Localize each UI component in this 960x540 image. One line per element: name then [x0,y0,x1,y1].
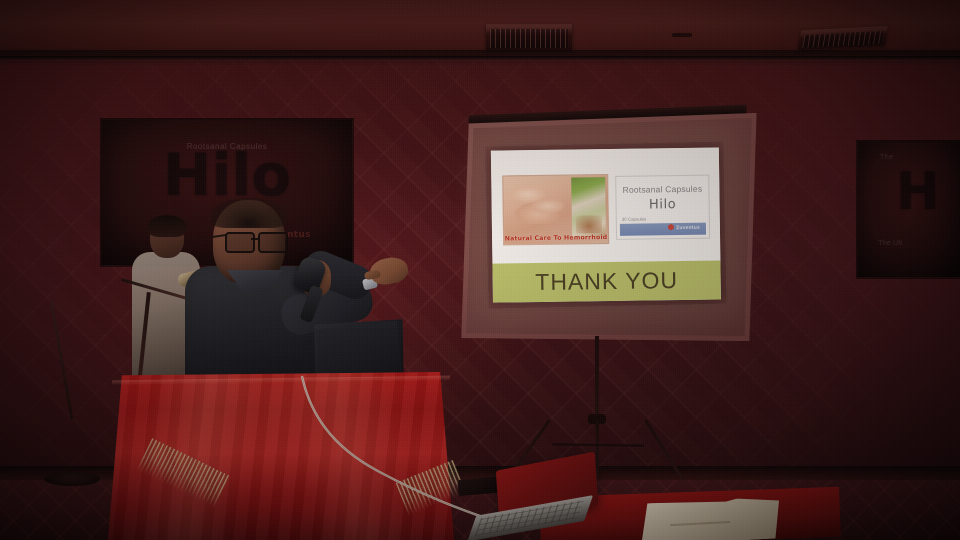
logo-dot-icon [668,224,674,230]
slide-thank-you-band: THANK YOU [492,260,721,302]
air-conditioning-vent [486,24,572,50]
pack-company-logo: Zuventus [668,224,700,231]
brand-banner-right: The H The Ult [856,140,960,279]
product-name: Rootsanal Capsules [616,184,708,195]
banner-supertext: The [880,154,894,161]
document-text-line [670,521,730,526]
slide-photo-caption: Natural Care To Hemorrhoid [504,234,608,242]
slide-product-photo: Natural Care To Hemorrhoid [502,174,609,245]
second-laptop[interactable] [467,458,602,540]
attendee-hair [148,215,186,237]
slide-product-pack: Rootsanal Capsules Hilo 30 Capsules Zuve… [615,175,710,240]
mic-stand-base [44,472,100,486]
ceiling-fixture-mark [672,33,692,37]
vent-slats-icon [802,31,883,48]
product-brand: Hilo [617,197,709,213]
speaker-gesturing-hand [368,255,410,287]
banner-subtext: The Ult [878,238,902,247]
projection-screen: Natural Care To Hemorrhoid Rootsanal Cap… [457,113,762,347]
photo-scene: Rootsanal Capsules Hilo Zuventus The H T… [0,0,960,540]
eyeglass-bridge [251,238,259,240]
banner-wordmark: Hilo [102,146,352,204]
keyboard-keys-icon [475,500,584,536]
ceiling-shadow [0,50,960,66]
eyeglass-lens-right [258,232,288,253]
banner-wordmark: H [896,166,940,218]
thank-you-text: THANK YOU [535,267,678,296]
product-count: 30 Capsules [622,217,646,222]
eyeglasses-icon [225,232,291,250]
pack-color-bar: Zuventus [620,223,706,236]
projected-slide: Natural Care To Hemorrhoid Rootsanal Cap… [491,147,721,302]
speaker-hair [211,198,287,228]
pack-company-name: Zuventus [676,225,700,231]
vent-slats-icon [490,29,568,48]
eyeglass-lens-left [225,232,255,253]
herbal-ingredients-collage [571,177,606,237]
hands-on-abdomen-illustration [507,180,572,225]
